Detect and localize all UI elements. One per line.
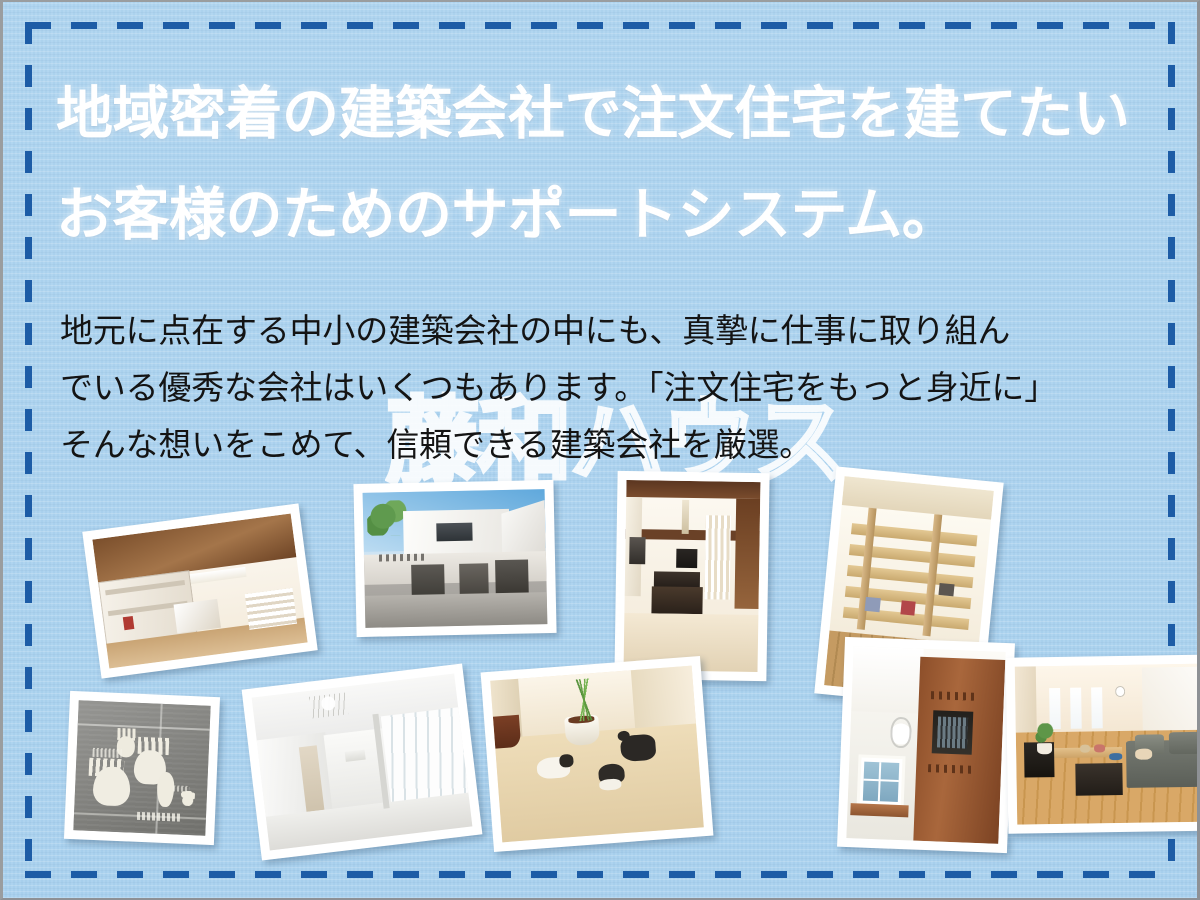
- body-line-1: 地元に点在する中小の建築会社の中にも、真摯に仕事に取り組ん: [60, 302, 1175, 359]
- photo-exterior-white-house: [353, 480, 556, 637]
- photo-animal-figures-floor-image: [490, 666, 704, 843]
- headline-line-1: 地域密着の建築会社で注文住宅を建てたい: [56, 64, 1166, 165]
- slide-canvas: 地域密着の建築会社で注文住宅を建てたい お客様のためのサポートシステム。 藤和ハ…: [0, 0, 1200, 900]
- body-line-2: でいる優秀な会社はいくつもあります。「注文住宅をもっと身近に」: [60, 359, 1175, 416]
- body-line-3: そんな想いをこめて、信頼できる建築会社を厳選。: [60, 416, 1175, 473]
- photo-collage: [3, 472, 1200, 892]
- photo-exterior-white-house-image: [363, 489, 548, 628]
- photo-dining-dark-beam: [614, 471, 769, 681]
- photo-handprints-concrete-image: [73, 700, 210, 835]
- headline-line-2: お客様のためのサポートシステム。: [56, 165, 1166, 266]
- photo-kitchen-wood-ceiling: [82, 503, 317, 678]
- photo-handprints-concrete: [64, 691, 220, 845]
- photo-dining-dark-beam-image: [624, 480, 761, 672]
- body-paragraph: 地元に点在する中小の建築会社の中にも、真摯に仕事に取り組ん でいる優秀な会社はい…: [60, 302, 1175, 473]
- page-headline: 地域密着の建築会社で注文住宅を建てたい お客様のためのサポートシステム。: [56, 64, 1166, 266]
- photo-wood-door-window-image: [846, 646, 1005, 844]
- photo-wood-door-window: [837, 637, 1015, 853]
- photo-living-room-sofa: [1006, 654, 1200, 834]
- photo-white-hallway-glass: [242, 663, 483, 860]
- photo-animal-figures-floor: [481, 656, 714, 852]
- dashed-border-top: [25, 22, 1175, 29]
- photo-kitchen-wood-ceiling-image: [92, 514, 307, 669]
- photo-white-hallway-glass-image: [252, 673, 473, 850]
- photo-living-room-sofa-image: [1015, 663, 1200, 824]
